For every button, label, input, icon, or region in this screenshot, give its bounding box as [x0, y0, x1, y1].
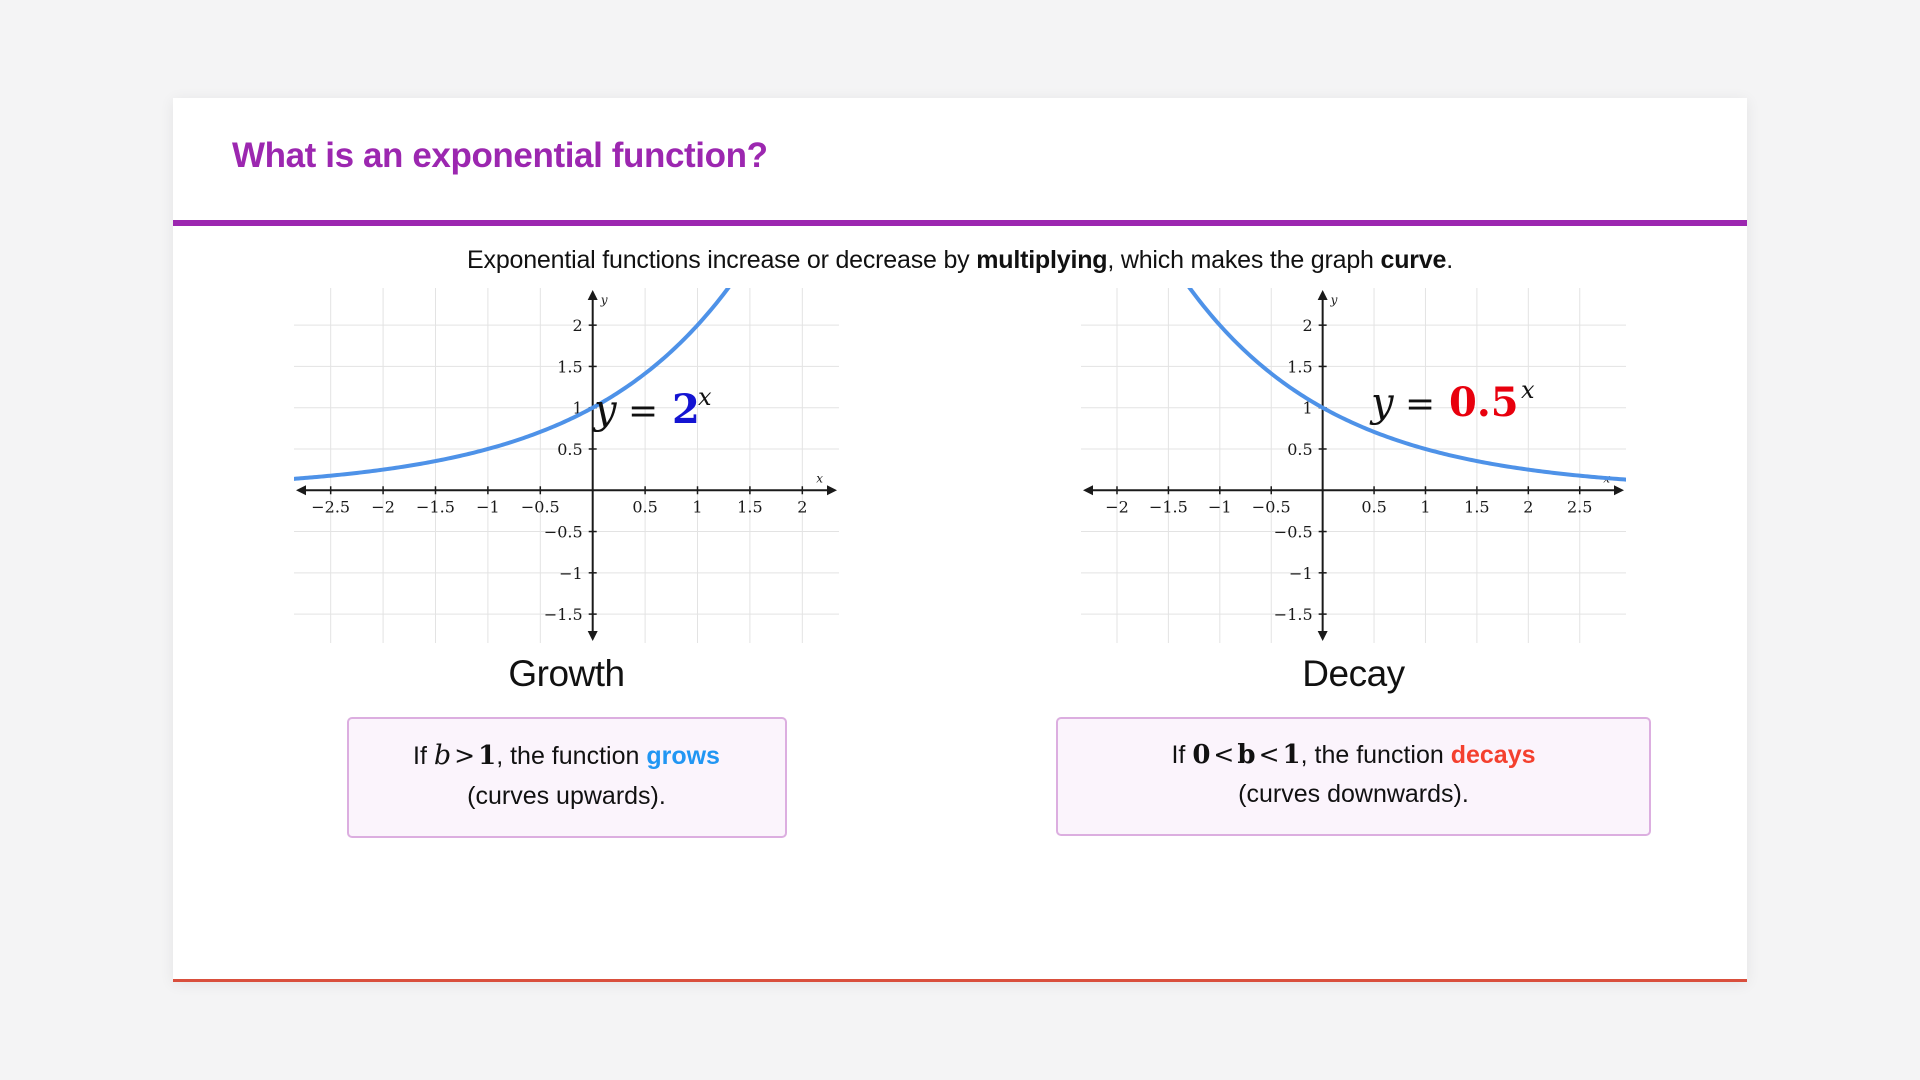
card-bottom-accent [173, 979, 1747, 982]
x-tick-label: 0.5 [1361, 497, 1386, 516]
callout-decay-operator-1: < [1210, 740, 1237, 769]
y-tick-label: 1.5 [1287, 357, 1312, 376]
caption-growth: Growth [508, 653, 624, 695]
y-tick-label: −1 [1289, 564, 1313, 583]
y-tick-label: −0.5 [544, 523, 583, 542]
y-axis-arrow-down [1318, 631, 1328, 641]
x-axis-arrow-left [1083, 485, 1093, 495]
x-axis-arrow-left [296, 485, 306, 495]
y-tick-label: 1.5 [557, 357, 582, 376]
y-tick-label: −1.5 [1274, 605, 1313, 624]
callout-growth-pre: If [413, 742, 434, 770]
y-tick-label: 2 [1302, 316, 1312, 335]
subtitle-part-1: Exponential functions increase or decrea… [467, 246, 976, 274]
graph-growth: −2.5−2−1.5−1−0.50.511.5221.510.5−0.5−1−1… [294, 288, 839, 643]
callout-growth-keyword: grows [646, 742, 720, 770]
x-tick-label: −0.5 [521, 497, 560, 516]
y-axis-label: y [1330, 293, 1338, 307]
subtitle-text: Exponential functions increase or decrea… [173, 246, 1747, 275]
equation-annotation: y=0.5x [1369, 376, 1535, 426]
gridlines [294, 288, 839, 643]
graph-decay: −2−1.5−1−0.50.511.522.521.510.5−0.5−1−1.… [1081, 288, 1626, 643]
callout-growth-num-1: 1 [478, 741, 496, 771]
callout-growth-operator: > [451, 741, 478, 770]
x-tick-label: −1 [1208, 497, 1232, 516]
x-axis-label: x [816, 471, 823, 485]
callout-decay-var-b: b [1237, 740, 1255, 770]
x-tick-label: 2 [797, 497, 807, 516]
callout-decay-pre: If [1171, 741, 1192, 769]
decay-chart-svg: −2−1.5−1−0.50.511.522.521.510.5−0.5−1−1.… [1081, 288, 1626, 643]
panel-decay: −2−1.5−1−0.50.511.522.521.510.5−0.5−1−1.… [960, 288, 1747, 838]
x-tick-label: −1.5 [1149, 497, 1188, 516]
x-tick-label: 0.5 [632, 497, 657, 516]
y-tick-label: 2 [573, 316, 583, 335]
x-axis-arrow-right [827, 485, 837, 495]
y-axis-label: y [600, 293, 608, 307]
exponential-curve [294, 288, 755, 479]
y-tick-label: −1 [559, 564, 583, 583]
x-tick-label: −1.5 [416, 497, 455, 516]
equation-operator: = [628, 391, 658, 432]
y-tick-label: 0.5 [557, 440, 582, 459]
x-tick-label: 1.5 [737, 497, 762, 516]
panel-growth: −2.5−2−1.5−1−0.50.511.5221.510.5−0.5−1−1… [173, 288, 960, 838]
axes [1083, 290, 1624, 641]
callout-decay-keyword: decays [1451, 741, 1536, 769]
equation-operator: = [1405, 384, 1435, 425]
page-title: What is an exponential function? [232, 136, 768, 176]
x-tick-label: 1 [692, 497, 702, 516]
y-tick-label: −1.5 [544, 605, 583, 624]
subtitle-bold-curve: curve [1380, 246, 1446, 274]
callout-decay-operator-2: < [1256, 740, 1283, 769]
x-tick-label: −1 [476, 497, 500, 516]
x-axis-arrow-right [1614, 485, 1624, 495]
caption-decay: Decay [1302, 653, 1404, 695]
callout-growth-var-b: b [434, 740, 451, 771]
equation-exponent: x [1521, 376, 1535, 404]
callout-growth-line2: (curves upwards). [375, 777, 759, 816]
axes [296, 290, 837, 641]
callout-growth: If b>1, the function grows (curves upwar… [347, 717, 787, 838]
callout-decay-line2: (curves downwards). [1084, 775, 1623, 814]
callout-decay-mid: , the function [1301, 741, 1451, 769]
x-tick-label: 2.5 [1567, 497, 1592, 516]
callout-decay-num-0: 0 [1192, 740, 1210, 770]
equation-lhs: y [1369, 380, 1395, 426]
callout-growth-mid: , the function [496, 742, 646, 770]
y-tick-label: 0.5 [1287, 440, 1312, 459]
panels-container: −2.5−2−1.5−1−0.50.511.5221.510.5−0.5−1−1… [173, 288, 1747, 838]
x-tick-label: 2 [1523, 497, 1533, 516]
y-axis-arrow-up [1318, 290, 1328, 300]
x-tick-label: 1.5 [1464, 497, 1489, 516]
x-tick-label: −2 [371, 497, 395, 516]
callout-decay: If 0<b<1, the function decays (curves do… [1056, 717, 1651, 836]
y-axis-arrow-down [588, 631, 598, 641]
exponential-curve [1163, 288, 1626, 480]
equation-lhs: y [592, 387, 618, 433]
callout-decay-num-1: 1 [1283, 740, 1301, 770]
gridlines [1081, 288, 1626, 643]
growth-chart-svg: −2.5−2−1.5−1−0.50.511.5221.510.5−0.5−1−1… [294, 288, 839, 643]
slide-card: What is an exponential function? Exponen… [173, 98, 1747, 982]
y-tick-label: −0.5 [1274, 523, 1313, 542]
x-tick-label: −0.5 [1252, 497, 1291, 516]
equation-base: 0.5 [1449, 379, 1519, 426]
equation-exponent: x [698, 383, 712, 411]
x-tick-label: −2 [1105, 497, 1129, 516]
y-axis-arrow-up [588, 290, 598, 300]
subtitle-part-2: , which makes the graph [1107, 246, 1380, 274]
equation-annotation: y=2x [592, 383, 712, 433]
subtitle-part-3: . [1446, 246, 1453, 274]
subtitle-bold-multiplying: multiplying [976, 246, 1107, 274]
x-tick-label: 1 [1420, 497, 1430, 516]
title-divider [173, 220, 1747, 226]
x-tick-label: −2.5 [311, 497, 350, 516]
equation-base: 2 [672, 386, 700, 433]
